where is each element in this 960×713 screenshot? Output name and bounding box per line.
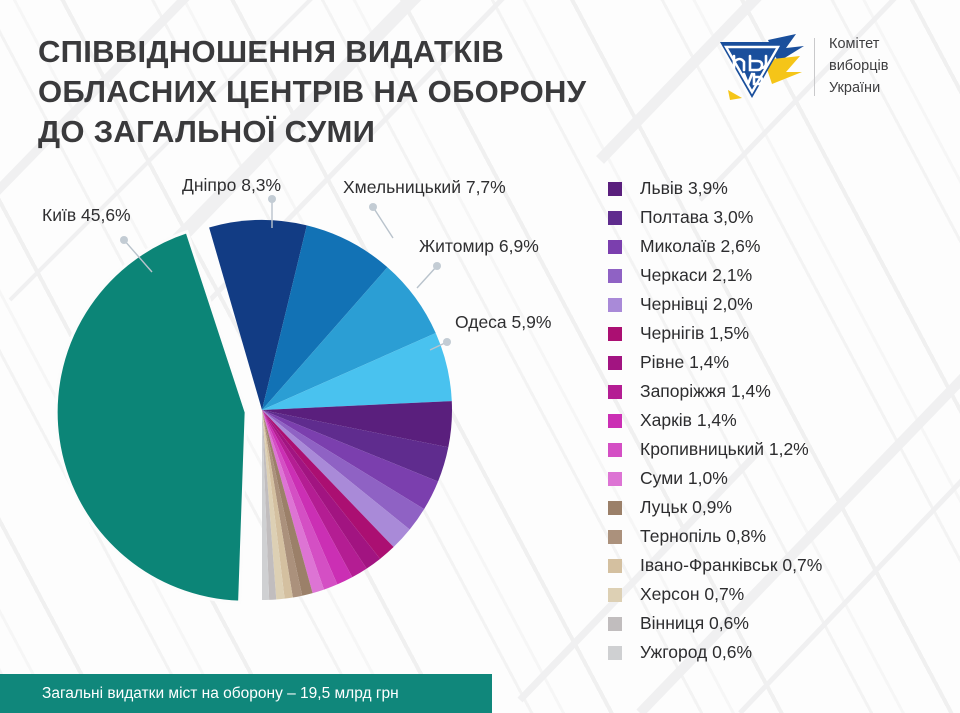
legend-item[interactable]: Луцьк 0,9% xyxy=(608,493,822,522)
legend-color-swatch xyxy=(608,443,622,457)
legend-item[interactable]: Вінниця 0,6% xyxy=(608,609,822,638)
logo-text-line-2: виборців xyxy=(829,56,888,78)
legend-item-label: Харків 1,4% xyxy=(640,410,737,431)
legend-color-swatch xyxy=(608,385,622,399)
title-line-1: СПІВВІДНОШЕННЯ ВИДАТКІВ xyxy=(38,32,678,72)
legend-item-label: Черкаси 2,1% xyxy=(640,265,752,286)
logo-text-line-1: Комітет xyxy=(829,34,888,56)
logo-divider xyxy=(814,38,815,96)
legend-item[interactable]: Харків 1,4% xyxy=(608,406,822,435)
legend-color-swatch xyxy=(608,298,622,312)
legend-item-label: Миколаїв 2,6% xyxy=(640,236,760,257)
legend-color-swatch xyxy=(608,269,622,283)
legend-item-label: Полтава 3,0% xyxy=(640,207,753,228)
legend-item[interactable]: Чернігів 1,5% xyxy=(608,319,822,348)
legend-item[interactable]: Ужгород 0,6% xyxy=(608,638,822,667)
legend-color-swatch xyxy=(608,356,622,370)
pie-callout-label: Одеса 5,9% xyxy=(455,312,551,333)
footer-total-text: Загальні видатки міст на оборону – 19,5 … xyxy=(0,685,399,703)
legend-color-swatch xyxy=(608,182,622,196)
pie-callout-label: Хмельницький 7,7% xyxy=(343,177,506,198)
legend: Львів 3,9%Полтава 3,0%Миколаїв 2,6%Черка… xyxy=(608,174,822,667)
legend-color-swatch xyxy=(608,240,622,254)
kvu-emblem-icon xyxy=(712,32,808,102)
pie-slice[interactable] xyxy=(56,232,246,602)
legend-color-swatch xyxy=(608,646,622,660)
legend-color-swatch xyxy=(608,588,622,602)
pie-chart: Київ 45,6%Дніпро 8,3%Хмельницький 7,7%Жи… xyxy=(0,150,600,660)
legend-item[interactable]: Івано-Франківськ 0,7% xyxy=(608,551,822,580)
legend-item[interactable]: Суми 1,0% xyxy=(608,464,822,493)
legend-color-swatch xyxy=(608,211,622,225)
legend-item-label: Запоріжжя 1,4% xyxy=(640,381,771,402)
callout-dot xyxy=(443,338,451,346)
legend-item-label: Суми 1,0% xyxy=(640,468,728,489)
legend-item[interactable]: Чернівці 2,0% xyxy=(608,290,822,319)
legend-item[interactable]: Тернопіль 0,8% xyxy=(608,522,822,551)
legend-item-label: Чернігів 1,5% xyxy=(640,323,749,344)
page-title: СПІВВІДНОШЕННЯ ВИДАТКІВ ОБЛАСНИХ ЦЕНТРІВ… xyxy=(38,32,678,152)
callout-dot xyxy=(369,203,377,211)
legend-item[interactable]: Запоріжжя 1,4% xyxy=(608,377,822,406)
title-line-3: ДО ЗАГАЛЬНОЇ СУМИ xyxy=(38,112,678,152)
legend-color-swatch xyxy=(608,559,622,573)
pie-callout-label: Дніпро 8,3% xyxy=(182,175,281,196)
legend-item[interactable]: Кропивницький 1,2% xyxy=(608,435,822,464)
legend-color-swatch xyxy=(608,472,622,486)
legend-item-label: Львів 3,9% xyxy=(640,178,728,199)
legend-item-label: Херсон 0,7% xyxy=(640,584,744,605)
legend-color-swatch xyxy=(608,501,622,515)
legend-color-swatch xyxy=(608,617,622,631)
callout-dot xyxy=(120,236,128,244)
legend-color-swatch xyxy=(608,327,622,341)
legend-color-swatch xyxy=(608,414,622,428)
organization-logo: Комітет виборців України xyxy=(712,32,888,102)
legend-item-label: Ужгород 0,6% xyxy=(640,642,752,663)
legend-color-swatch xyxy=(608,530,622,544)
legend-item-label: Вінниця 0,6% xyxy=(640,613,749,634)
pie-chart-svg xyxy=(0,150,600,660)
legend-item-label: Тернопіль 0,8% xyxy=(640,526,766,547)
pie-callout-label: Київ 45,6% xyxy=(42,205,131,226)
callout-dot xyxy=(433,262,441,270)
legend-item[interactable]: Львів 3,9% xyxy=(608,174,822,203)
callout-leader-line xyxy=(417,266,437,288)
legend-item-label: Кропивницький 1,2% xyxy=(640,439,809,460)
legend-item[interactable]: Рівне 1,4% xyxy=(608,348,822,377)
legend-item[interactable]: Черкаси 2,1% xyxy=(608,261,822,290)
legend-item-label: Чернівці 2,0% xyxy=(640,294,753,315)
legend-item-label: Рівне 1,4% xyxy=(640,352,729,373)
pie-slices xyxy=(56,220,452,602)
legend-item-label: Івано-Франківськ 0,7% xyxy=(640,555,822,576)
legend-item[interactable]: Миколаїв 2,6% xyxy=(608,232,822,261)
callout-dot xyxy=(268,195,276,203)
legend-item[interactable]: Полтава 3,0% xyxy=(608,203,822,232)
title-line-2: ОБЛАСНИХ ЦЕНТРІВ НА ОБОРОНУ xyxy=(38,72,678,112)
logo-text: Комітет виборців України xyxy=(829,34,888,99)
footer-banner: Загальні видатки міст на оборону – 19,5 … xyxy=(0,674,492,713)
callout-leader-line xyxy=(373,207,393,238)
legend-item[interactable]: Херсон 0,7% xyxy=(608,580,822,609)
pie-callout-label: Житомир 6,9% xyxy=(419,236,539,257)
legend-item-label: Луцьк 0,9% xyxy=(640,497,732,518)
logo-text-line-3: України xyxy=(829,78,888,100)
